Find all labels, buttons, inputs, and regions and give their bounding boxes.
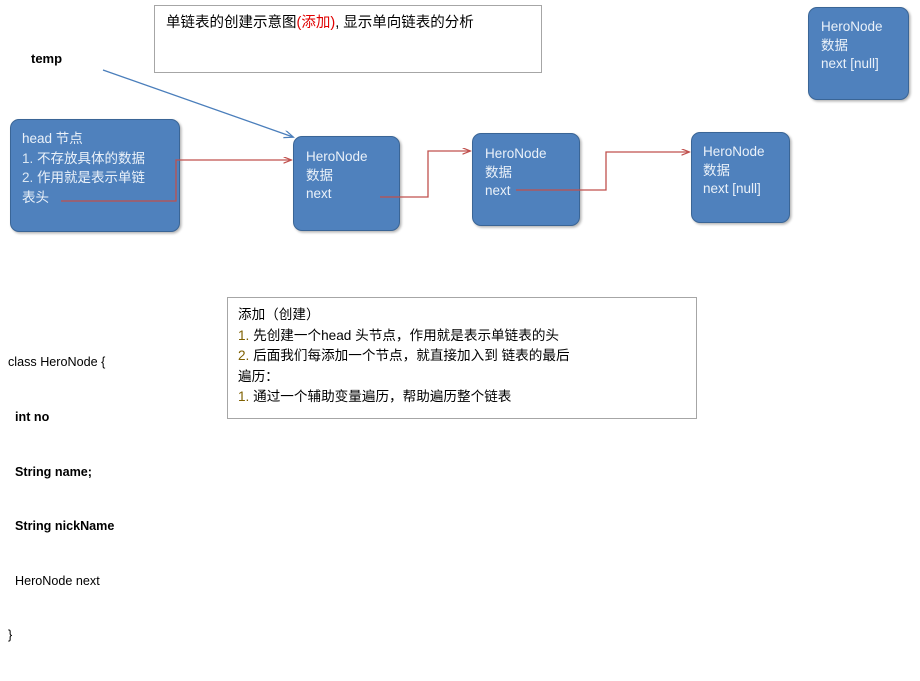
description-line-3-text: 后面我们每添加一个节点，就直接加入到 链表的最后	[253, 348, 569, 363]
description-line-3-number: 2.	[238, 348, 249, 363]
description-line-5-number: 1.	[238, 389, 249, 404]
node-line-3: next	[306, 185, 368, 204]
code-line-6: }	[8, 626, 114, 644]
code-line-2: int no	[8, 408, 114, 426]
head-node-line-2: 1. 不存放具体的数据	[22, 149, 145, 169]
node-floating-top-right[interactable]: HeroNode 数据 next [null]	[808, 7, 909, 100]
code-line-5: HeroNode next	[8, 572, 114, 590]
node-line-1: HeroNode	[306, 148, 368, 167]
description-line-2-text: 先创建一个head 头节点，作用就是表示单链表的头	[253, 328, 559, 343]
node-1[interactable]: HeroNode 数据 next	[293, 136, 400, 231]
node-line-3: next [null]	[821, 55, 883, 74]
title-text-before: 单链表的创建示意图	[166, 15, 297, 31]
node-line-1: HeroNode	[821, 18, 883, 37]
node-line-1: HeroNode	[485, 145, 547, 164]
description-line-5-text: 通过一个辅助变量遍历，帮助遍历整个链表	[253, 389, 511, 404]
description-box: 添加（创建） 1. 先创建一个head 头节点，作用就是表示单链表的头 2. 后…	[227, 297, 697, 419]
node-line-1: HeroNode	[703, 143, 765, 162]
description-line-4: 遍历：	[238, 367, 570, 388]
node-line-2: 数据	[485, 164, 547, 183]
head-node-line-2-text: 不存放具体的数据	[37, 151, 145, 166]
description-lines: 添加（创建） 1. 先创建一个head 头节点，作用就是表示单链表的头 2. 后…	[238, 305, 570, 408]
node-2-lines: HeroNode 数据 next	[485, 145, 547, 201]
node-3-lines: HeroNode 数据 next [null]	[703, 143, 765, 199]
node-3[interactable]: HeroNode 数据 next [null]	[691, 132, 790, 223]
code-line-1: class HeroNode {	[8, 353, 114, 371]
head-node-lines: head 节点 1. 不存放具体的数据 2. 作用就是表示单链 表头	[22, 129, 145, 207]
head-node[interactable]: head 节点 1. 不存放具体的数据 2. 作用就是表示单链 表头	[10, 119, 180, 232]
head-node-line-2-number: 1.	[22, 151, 33, 166]
diagram-canvas: 单链表的创建示意图(添加), 显示单向链表的分析 temp HeroNode 数…	[0, 0, 920, 431]
description-line-2-number: 1.	[238, 328, 249, 343]
title-text-after: , 显示单向链表的分析	[335, 15, 474, 31]
node-line-2: 数据	[306, 167, 368, 186]
code-line-3: String name;	[8, 463, 114, 481]
node-floating-top-right-lines: HeroNode 数据 next [null]	[821, 18, 883, 74]
head-node-line-3: 2. 作用就是表示单链	[22, 168, 145, 188]
temp-label: temp	[31, 51, 62, 66]
head-node-line-3-number: 2.	[22, 170, 33, 185]
head-node-line-1: head 节点	[22, 129, 145, 149]
node-line-3: next [null]	[703, 180, 765, 199]
code-line-2-text: int no	[8, 408, 49, 426]
head-node-line-3-text: 作用就是表示单链	[37, 170, 145, 185]
node-line-2: 数据	[821, 37, 883, 56]
description-line-2: 1. 先创建一个head 头节点，作用就是表示单链表的头	[238, 326, 570, 347]
code-block: class HeroNode { int no String name; Str…	[8, 317, 114, 681]
node-2[interactable]: HeroNode 数据 next	[472, 133, 580, 226]
title-accent-text: 添加	[301, 15, 330, 31]
node-1-lines: HeroNode 数据 next	[306, 148, 368, 204]
description-line-5: 1. 通过一个辅助变量遍历，帮助遍历整个链表	[238, 387, 570, 408]
title-text: 单链表的创建示意图(添加), 显示单向链表的分析	[166, 14, 474, 32]
node-line-3: next	[485, 182, 547, 201]
code-line-4-text: String nickName	[8, 517, 114, 535]
description-line-3: 2. 后面我们每添加一个节点，就直接加入到 链表的最后	[238, 346, 570, 367]
head-node-line-4: 表头	[22, 188, 145, 208]
code-line-5-text: HeroNode next	[8, 572, 100, 590]
code-line-4: String nickName	[8, 517, 114, 535]
code-line-3-text: String name;	[8, 463, 92, 481]
node-line-2: 数据	[703, 162, 765, 181]
title-box: 单链表的创建示意图(添加), 显示单向链表的分析	[154, 5, 542, 73]
description-line-1: 添加（创建）	[238, 305, 570, 326]
